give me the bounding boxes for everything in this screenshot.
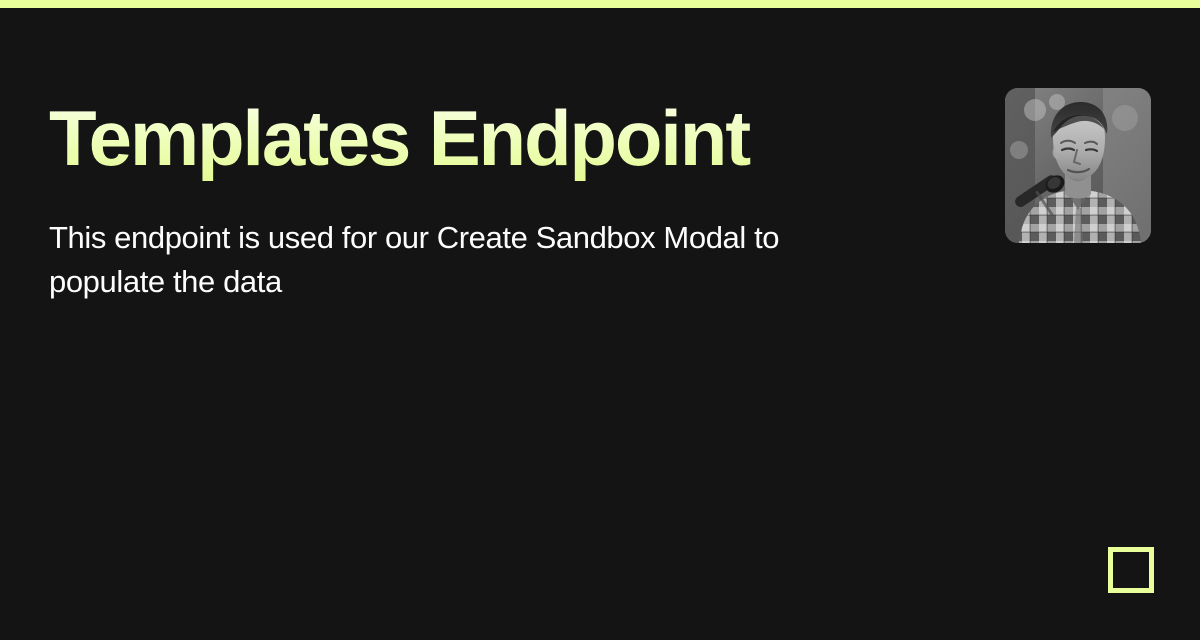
top-accent-bar — [0, 0, 1200, 8]
page-subtitle: This endpoint is used for our Create San… — [49, 184, 789, 304]
outlined-square-logo-icon — [1108, 547, 1154, 593]
page-title: Templates Endpoint — [49, 92, 949, 184]
text-content-block: Templates Endpoint This endpoint is used… — [49, 92, 949, 304]
avatar-portrait-image — [1005, 88, 1151, 243]
avatar — [1005, 88, 1151, 243]
social-card: Templates Endpoint This endpoint is used… — [0, 0, 1200, 640]
